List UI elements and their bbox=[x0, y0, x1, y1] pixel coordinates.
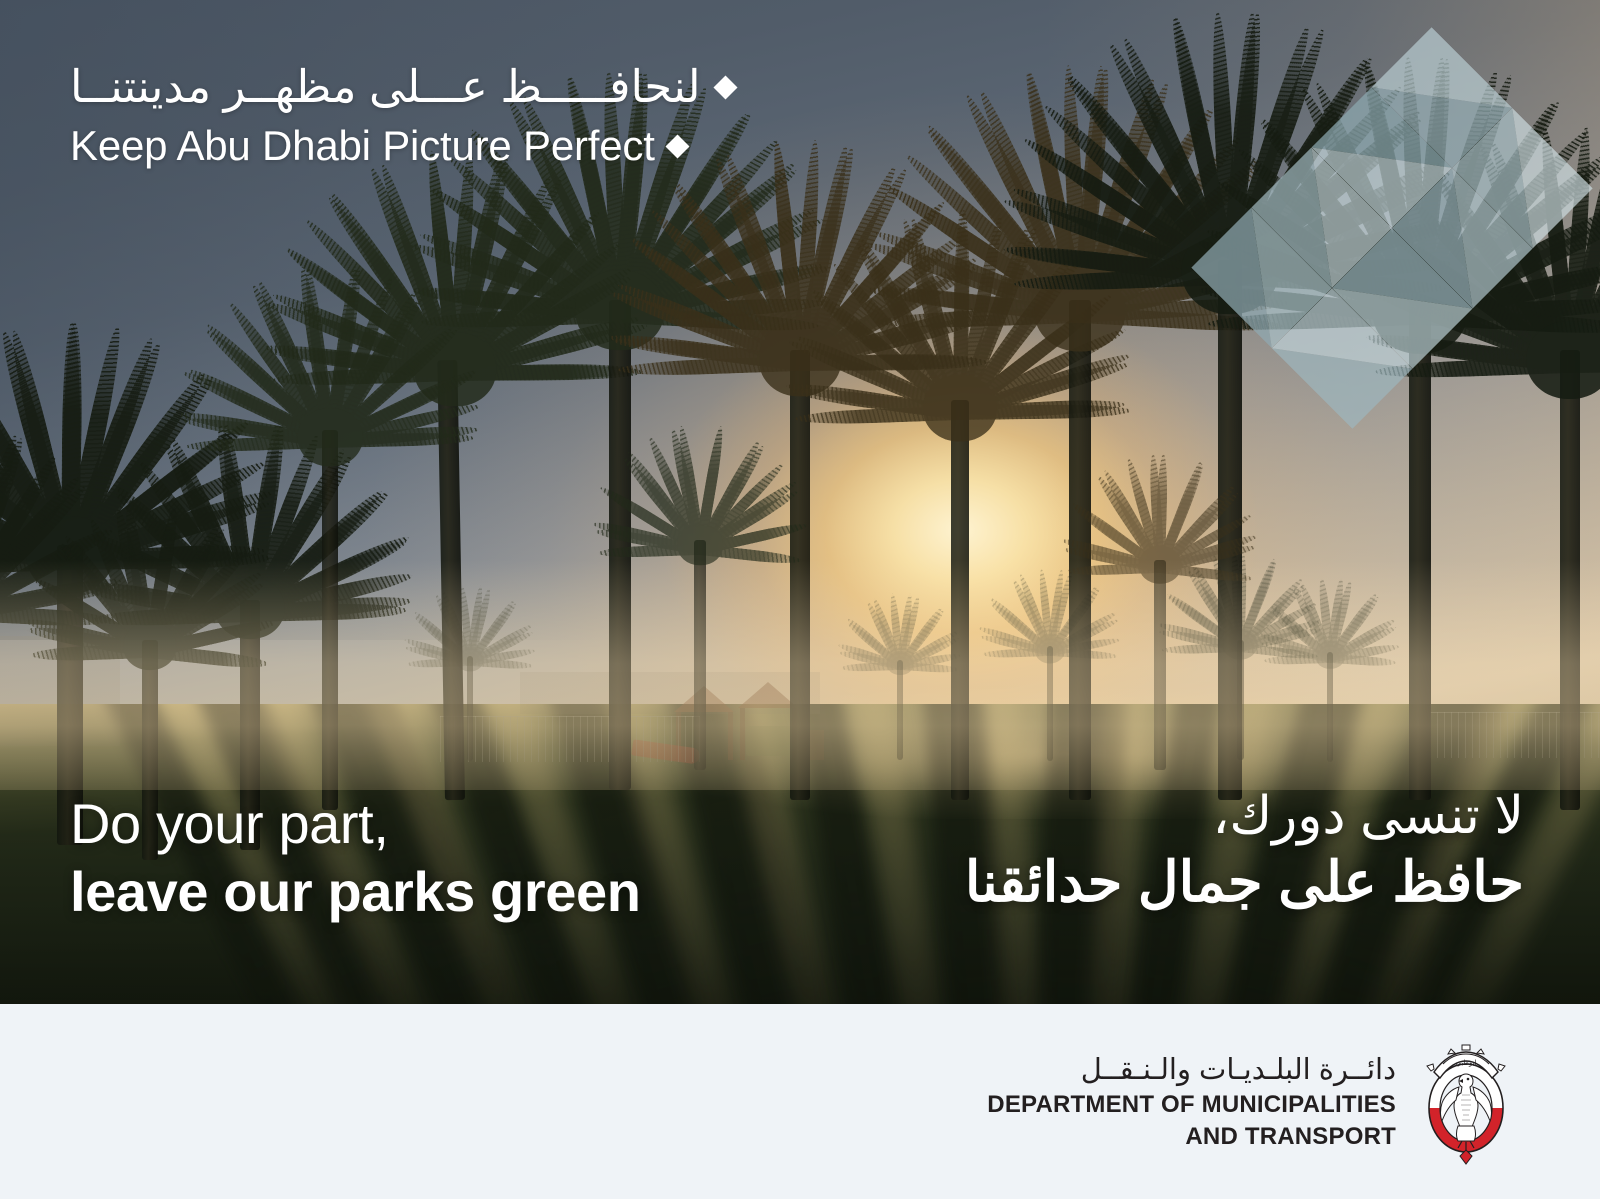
department-name: دائــرة البلـديـات والـنـقــل DEPARTMENT… bbox=[987, 1052, 1396, 1151]
tagline-english: Do your part, leave our parks green bbox=[70, 792, 641, 924]
palm-crown-core bbox=[123, 622, 176, 670]
campaign-poster: لنحافـــــظ عـــلى مظهــر مدينتنــا Keep… bbox=[0, 0, 1600, 1199]
tagline-arabic-line2: حافظ على جمال حدائقنا bbox=[965, 849, 1524, 915]
tagline-english-line1: Do your part, bbox=[70, 792, 641, 856]
park-sunrise-photo: لنحافـــــظ عـــلى مظهــر مدينتنــا Keep… bbox=[0, 0, 1600, 1004]
campaign-header-arabic: لنحافـــــظ عـــلى مظهــر مدينتنــا bbox=[70, 62, 701, 112]
palm-crown-core bbox=[1315, 642, 1345, 669]
playground-post-c bbox=[740, 708, 745, 760]
palm-crown-core bbox=[677, 525, 723, 566]
tagline-arabic: لا تنسى دورك، حافظ على جمال حدائقنا bbox=[965, 786, 1524, 915]
palm-crown-core bbox=[1139, 546, 1181, 583]
palm-crown bbox=[580, 454, 820, 634]
campaign-header: لنحافـــــظ عـــلى مظهــر مدينتنــا Keep… bbox=[70, 62, 734, 170]
palm-crown bbox=[1050, 481, 1270, 646]
playground-post-b bbox=[728, 712, 733, 760]
palm-crown-core bbox=[887, 651, 914, 675]
campaign-header-english: Keep Abu Dhabi Picture Perfect bbox=[70, 122, 655, 170]
department-name-english-line1: DEPARTMENT OF MUNICIPALITIES bbox=[987, 1091, 1396, 1119]
palm-crown bbox=[10, 539, 290, 749]
playground-roof-right bbox=[738, 682, 798, 708]
park-fence bbox=[440, 716, 700, 762]
palm-crown bbox=[830, 610, 970, 715]
palm-crown bbox=[160, 308, 500, 563]
diamond-icon bbox=[713, 75, 737, 99]
tagline-arabic-line1: لا تنسى دورك، bbox=[965, 786, 1524, 847]
department-name-english-line2: AND TRANSPORT bbox=[987, 1123, 1396, 1151]
tagline-english-line2: leave our parks green bbox=[70, 860, 641, 924]
department-logo-lockup: دائــرة البلـديـات والـنـقــل DEPARTMENT… bbox=[987, 1038, 1514, 1166]
diamond-icon bbox=[665, 134, 689, 158]
campaign-header-english-row: Keep Abu Dhabi Picture Perfect bbox=[70, 122, 734, 170]
department-name-arabic: دائــرة البلـديـات والـنـقــل bbox=[987, 1052, 1396, 1088]
palm-crown-core bbox=[298, 409, 363, 467]
palm-crown bbox=[1252, 596, 1408, 713]
palm-crown-core bbox=[1526, 321, 1600, 399]
campaign-header-arabic-row: لنحافـــــظ عـــلى مظهــر مدينتنــا bbox=[70, 62, 734, 112]
svg-text:ابوظبي: ابوظبي bbox=[1455, 1059, 1476, 1067]
footer-bar: دائــرة البلـديـات والـنـقــل DEPARTMENT… bbox=[0, 1004, 1600, 1199]
playground-panel bbox=[746, 726, 792, 756]
abu-dhabi-falcon-emblem-icon: ابوظبي bbox=[1418, 1038, 1514, 1166]
